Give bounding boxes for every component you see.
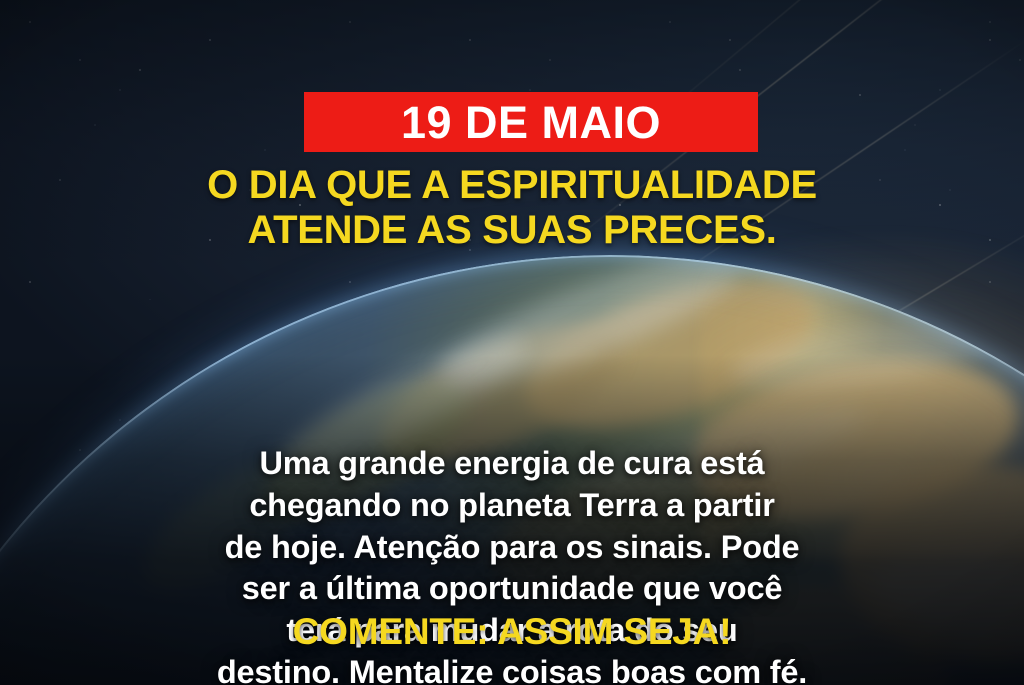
body-line-4: ser a última oportunidade que você [48,568,976,610]
body-line-2: chegando no planeta Terra a partir [48,485,976,527]
date-banner-label: 19 DE MAIO [401,100,661,145]
poster-content: 19 DE MAIO O DIA QUE A ESPIRITUALIDADE A… [0,0,1024,685]
headline-line-1: O DIA QUE A ESPIRITUALIDADE [0,163,1024,208]
poster-canvas: 19 DE MAIO O DIA QUE A ESPIRITUALIDADE A… [0,0,1024,685]
headline: O DIA QUE A ESPIRITUALIDADE ATENDE AS SU… [0,163,1024,253]
date-banner: 19 DE MAIO [304,92,758,152]
call-to-action: COMENTE: ASSIM SEJA! [0,612,1024,653]
body-line-3: de hoje. Atenção para os sinais. Pode [48,527,976,569]
body-line-1: Uma grande energia de cura está [48,443,976,485]
headline-line-2: ATENDE AS SUAS PRECES. [0,208,1024,253]
body-line-6: destino. Mentalize coisas boas com fé. [48,652,976,685]
